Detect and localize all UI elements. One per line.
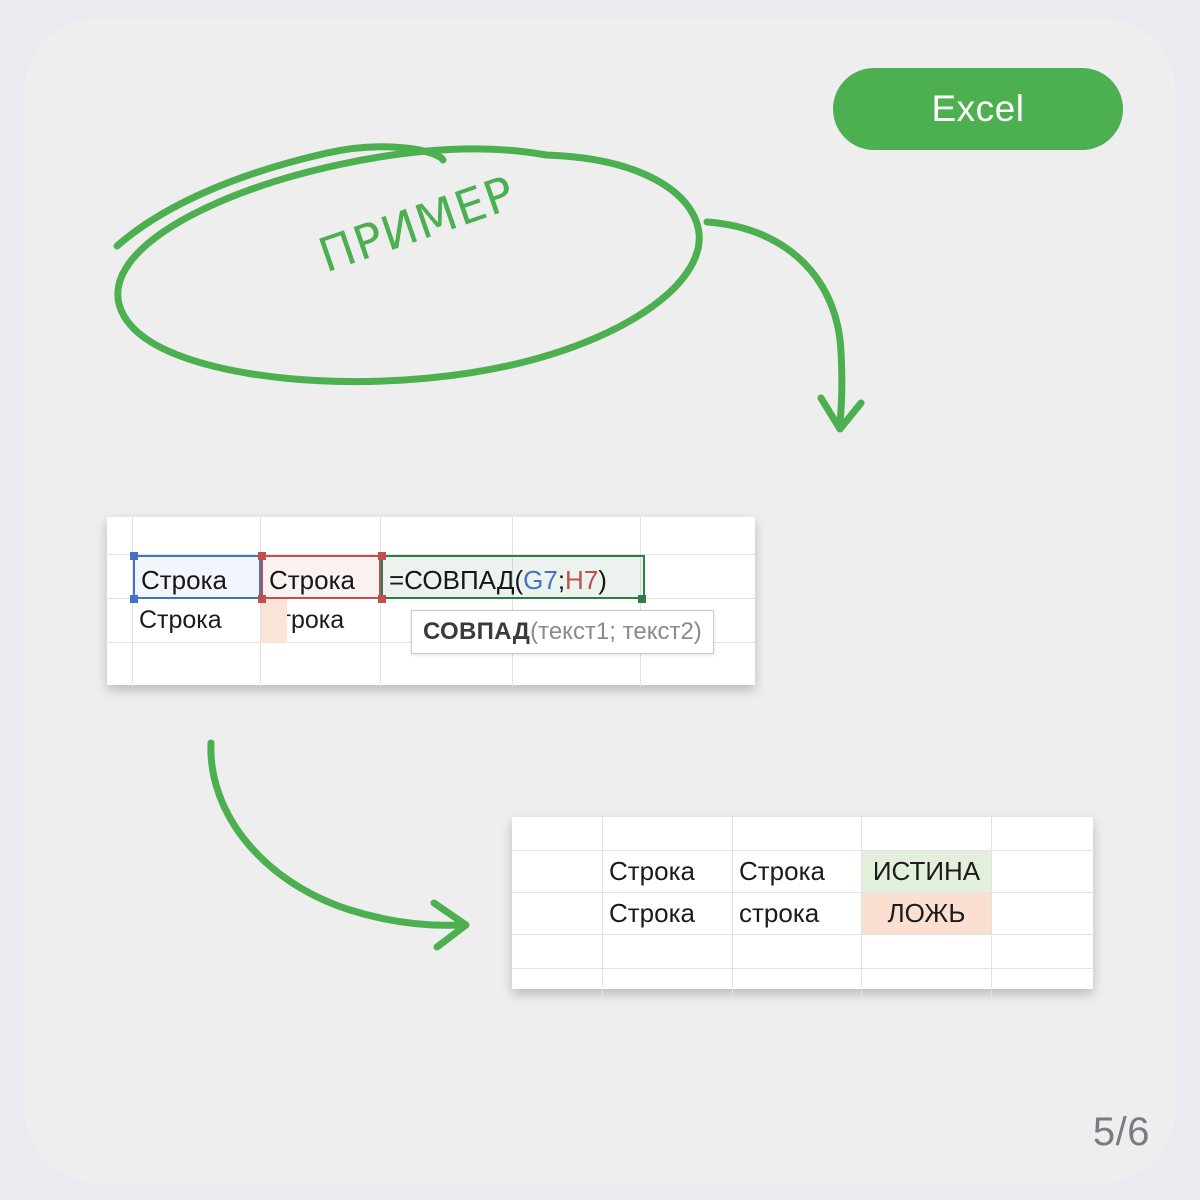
excel-badge-label: Excel: [932, 88, 1025, 130]
grid-cell[interactable]: [862, 817, 992, 851]
grid-cell[interactable]: [862, 935, 992, 969]
grid-cell-text[interactable]: Строка: [733, 851, 862, 893]
grid-cell[interactable]: [133, 643, 261, 687]
cell-value-h7: Строка: [269, 565, 355, 596]
grid-cell[interactable]: [107, 599, 133, 643]
grid-cell[interactable]: [992, 851, 1093, 893]
result-cell-false[interactable]: ЛОЖЬ: [862, 893, 992, 935]
selection-handle[interactable]: [378, 552, 386, 560]
spreadsheet-formula-entry[interactable]: Строка строка Строка: [107, 517, 755, 685]
grid-cell[interactable]: [733, 817, 862, 851]
formula-autocomplete-tooltip: СОВПАД(текст1; текст2): [411, 610, 714, 654]
page-counter: 5/6: [1093, 1110, 1150, 1155]
table-row: [512, 969, 1093, 997]
grid-cell[interactable]: [107, 555, 133, 599]
grid-cell[interactable]: [603, 969, 733, 997]
result-cell-tint: [261, 599, 287, 643]
grid-cell[interactable]: [512, 893, 603, 935]
selection-handle[interactable]: [378, 595, 386, 603]
spreadsheet-result[interactable]: Строка Строка ИСТИНА Строка строка ЛОЖЬ: [512, 817, 1093, 989]
grid-cell-text[interactable]: Строка: [133, 599, 261, 643]
grid-cell[interactable]: [261, 643, 381, 687]
grid-cell[interactable]: [512, 817, 603, 851]
table-row: Строка строка ЛОЖЬ: [512, 893, 1093, 935]
grid-cell[interactable]: [992, 969, 1093, 997]
grid-cell-text[interactable]: строка: [733, 893, 862, 935]
selection-handle[interactable]: [130, 595, 138, 603]
selection-handle[interactable]: [258, 595, 266, 603]
grid-cell[interactable]: [381, 517, 513, 555]
grid-cell-text[interactable]: Строка: [603, 893, 733, 935]
grid-cell[interactable]: [641, 517, 755, 555]
tooltip-function-arguments: (текст1; текст2): [530, 618, 702, 646]
tooltip-function-name: СОВПАД: [423, 618, 530, 646]
grid-cell[interactable]: [733, 969, 862, 997]
grid-cell[interactable]: [992, 817, 1093, 851]
slide-canvas: Excel ПРИМЕР: [0, 0, 1200, 1200]
cell-value-g7: Строка: [141, 565, 227, 596]
grid-cell[interactable]: [133, 517, 261, 555]
selection-handle[interactable]: [130, 552, 138, 560]
selection-handle[interactable]: [638, 595, 646, 603]
grid-cell[interactable]: [603, 935, 733, 969]
grid-cell[interactable]: [992, 893, 1093, 935]
grid-cell[interactable]: [512, 935, 603, 969]
result-cell-true[interactable]: ИСТИНА: [862, 851, 992, 893]
grid-cell[interactable]: [261, 517, 381, 555]
grid-cell[interactable]: [512, 969, 603, 997]
grid-cell[interactable]: [107, 643, 133, 687]
excel-badge: Excel: [833, 68, 1123, 150]
grid-cell[interactable]: [862, 969, 992, 997]
grid-cell[interactable]: [512, 851, 603, 893]
grid-cell[interactable]: [992, 935, 1093, 969]
formula-prefix: =СОВПАД(: [389, 565, 523, 595]
formula-suffix: ): [598, 565, 607, 595]
formula-separator: ;: [558, 565, 565, 595]
table-row: [512, 935, 1093, 969]
selection-handle[interactable]: [258, 552, 266, 560]
table-row: Строка Строка ИСТИНА: [512, 851, 1093, 893]
table-row: [512, 817, 1093, 851]
table-row: [107, 517, 755, 555]
grid-cell[interactable]: [733, 935, 862, 969]
formula-arg-two: H7: [565, 565, 598, 595]
grid-cell-text[interactable]: Строка: [603, 851, 733, 893]
grid-cell[interactable]: [603, 817, 733, 851]
grid-cell[interactable]: [107, 517, 133, 555]
formula-editing-text[interactable]: =СОВПАД(G7;H7): [389, 565, 607, 596]
grid-cell[interactable]: [641, 555, 755, 599]
formula-arg-one: G7: [523, 565, 558, 595]
grid-cell[interactable]: [513, 517, 641, 555]
